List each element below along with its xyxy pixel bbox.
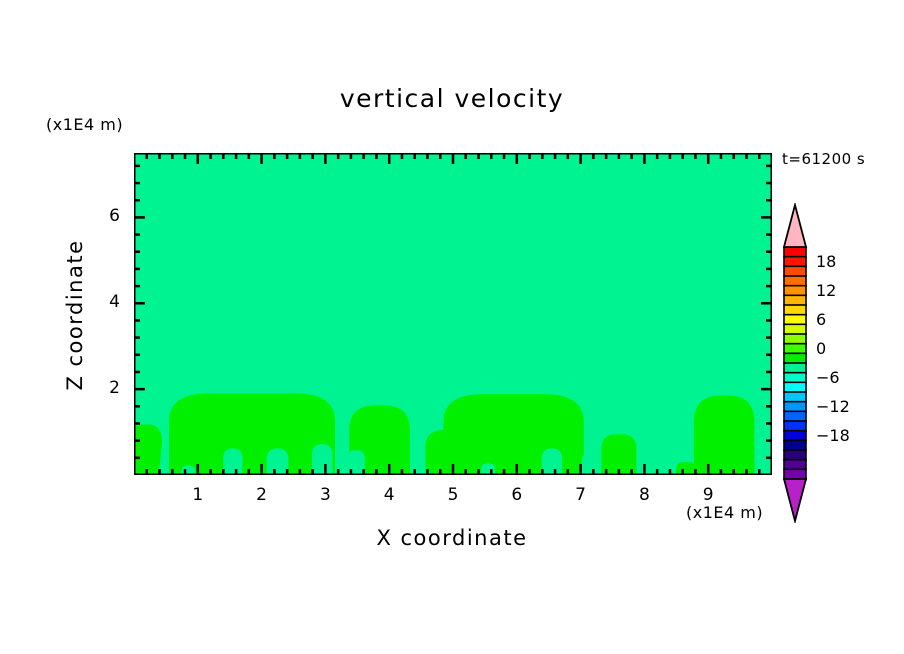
colorbar-band bbox=[784, 421, 806, 431]
plume-region bbox=[694, 396, 755, 475]
colorbar-band bbox=[784, 382, 806, 392]
page-title: vertical velocity bbox=[0, 84, 904, 113]
plume-notch bbox=[481, 463, 495, 475]
colorbar bbox=[781, 203, 811, 523]
colorbar-band bbox=[784, 460, 806, 470]
colorbar-tick-label: 0 bbox=[816, 339, 826, 358]
x-tick-label: 3 bbox=[295, 485, 355, 505]
x-axis-title: X coordinate bbox=[0, 526, 904, 550]
colorbar-band bbox=[784, 440, 806, 450]
colorbar-over-cap bbox=[784, 205, 806, 247]
colorbar-under-cap bbox=[784, 479, 806, 521]
timestamp-label: t=61200 s bbox=[782, 150, 865, 168]
colorbar-band bbox=[784, 402, 806, 412]
x-tick-label: 7 bbox=[551, 485, 611, 505]
colorbar-band bbox=[784, 334, 806, 344]
colorbar-band bbox=[784, 469, 806, 479]
x-axis-unit-label: (x1E4 m) bbox=[686, 503, 763, 522]
y-axis-unit-label: (x1E4 m) bbox=[46, 115, 123, 134]
plume-region bbox=[676, 462, 695, 475]
colorbar-tick-label: 12 bbox=[816, 281, 836, 300]
colorbar-band bbox=[784, 266, 806, 276]
plume-notch bbox=[312, 444, 332, 475]
figure-canvas: vertical velocity (x1E4 m) t=61200 s 123… bbox=[0, 0, 904, 654]
plume-region bbox=[169, 393, 335, 475]
plume-region bbox=[601, 434, 636, 475]
x-tick-label: 1 bbox=[168, 485, 228, 505]
y-axis-title: Z coordinate bbox=[63, 205, 87, 425]
plume-notch bbox=[267, 448, 289, 475]
x-tick-label: 2 bbox=[232, 485, 292, 505]
colorbar-tick-label: −12 bbox=[816, 397, 850, 416]
x-tick-label: 6 bbox=[487, 485, 547, 505]
x-tick-label: 4 bbox=[359, 485, 419, 505]
y-tick-label: 4 bbox=[86, 292, 120, 312]
contour-plot bbox=[134, 153, 772, 475]
plume-region bbox=[443, 394, 583, 475]
colorbar-band bbox=[784, 450, 806, 460]
colorbar-tick-label: 18 bbox=[816, 252, 836, 271]
colorbar-tick-label: 6 bbox=[816, 310, 826, 329]
colorbar-band bbox=[784, 363, 806, 373]
colorbar-band bbox=[784, 257, 806, 267]
colorbar-band bbox=[784, 431, 806, 441]
colorbar-tick-label: −18 bbox=[816, 426, 850, 445]
colorbar-band bbox=[784, 392, 806, 402]
plume-notch bbox=[542, 448, 562, 475]
y-tick-label: 6 bbox=[86, 206, 120, 226]
colorbar-band bbox=[784, 353, 806, 363]
x-tick-label: 8 bbox=[614, 485, 674, 505]
colorbar-band bbox=[784, 305, 806, 315]
colorbar-tick-label: −6 bbox=[816, 368, 840, 387]
colorbar-band bbox=[784, 411, 806, 421]
colorbar-band bbox=[784, 295, 806, 305]
colorbar-band bbox=[784, 247, 806, 257]
plume-region bbox=[134, 424, 162, 475]
plume-notch bbox=[223, 448, 242, 475]
x-tick-label: 5 bbox=[423, 485, 483, 505]
colorbar-band bbox=[784, 276, 806, 286]
colorbar-band bbox=[784, 373, 806, 383]
colorbar-band bbox=[784, 324, 806, 334]
colorbar-band bbox=[784, 344, 806, 354]
y-tick-label: 2 bbox=[86, 378, 120, 398]
plume-notch bbox=[582, 453, 599, 475]
colorbar-band bbox=[784, 286, 806, 296]
colorbar-band bbox=[784, 315, 806, 325]
x-tick-label: 9 bbox=[678, 485, 738, 505]
